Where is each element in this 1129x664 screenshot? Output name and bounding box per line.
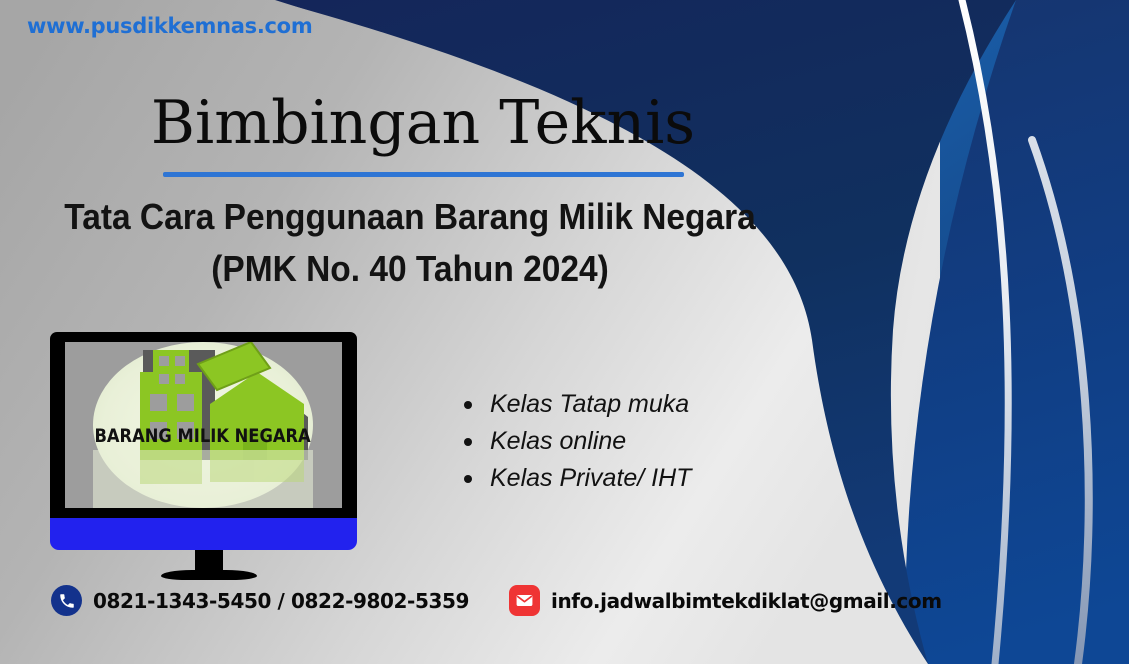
phone-icon [51, 585, 82, 616]
barang-milik-negara-logo: BARANG MILIK NEGARA [65, 342, 342, 508]
contact-email[interactable]: info.jadwalbimtekdiklat@gmail.com [509, 585, 942, 616]
logo-caption: BARANG MILIK NEGARA [94, 426, 310, 447]
class-options-list: Kelas Tatap muka Kelas online Kelas Priv… [452, 386, 691, 497]
monitor-stand-base [161, 570, 257, 580]
class-option-label: Kelas Private/ IHT [490, 464, 691, 492]
monitor-illustration: BARANG MILIK NEGARA [50, 332, 357, 577]
subtitle-line-1: Tata Cara Penggunaan Barang Milik Negara [29, 196, 792, 238]
subtitle-line-2: (PMK No. 40 Tahun 2024) [29, 248, 792, 290]
list-item: Kelas Private/ IHT [490, 460, 691, 497]
list-item: Kelas Tatap muka [490, 386, 691, 423]
monitor-screen: BARANG MILIK NEGARA [65, 342, 342, 508]
email-address-text: info.jadwalbimtekdiklat@gmail.com [551, 589, 942, 613]
envelope-icon [509, 585, 540, 616]
title-underline-rule [163, 172, 684, 177]
class-option-label: Kelas Tatap muka [490, 390, 689, 418]
monitor-chin-bar [50, 518, 357, 550]
contact-phone[interactable]: 0821-1343-5450 / 0822-9802-5359 [51, 585, 469, 616]
bullet-dot-icon [464, 475, 472, 483]
bullet-dot-icon [464, 401, 472, 409]
list-item: Kelas online [490, 423, 691, 460]
bullet-dot-icon [464, 438, 472, 446]
website-url: www.pusdikkemnas.com [27, 14, 312, 38]
poster-canvas: www.pusdikkemnas.com Bimbingan Teknis Ta… [0, 0, 1129, 664]
phone-number-text: 0821-1343-5450 / 0822-9802-5359 [93, 589, 469, 613]
class-option-label: Kelas online [490, 427, 626, 455]
page-title: Bimbingan Teknis [0, 92, 846, 155]
